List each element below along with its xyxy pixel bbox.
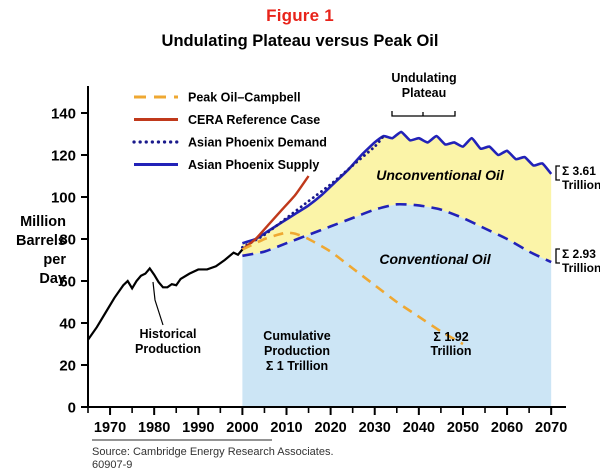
unconventional-sum-bracket [556, 166, 560, 180]
chart-canvas: 0204060801001201401970198019902000201020… [0, 0, 600, 476]
legend-item: Asian Phoenix Demand [134, 136, 327, 150]
x-tick-label: 2010 [270, 420, 302, 436]
y-tick-label: 0 [68, 400, 76, 417]
legend-label: CERA Reference Case [188, 113, 320, 127]
peak-oil-sum-label-line-1: Σ 1.92 [433, 330, 468, 344]
conventional-oil-label-line-1: Conventional Oil [379, 251, 491, 267]
x-tick-label: 2040 [403, 420, 435, 436]
unconventional-oil-label-line-1: Unconventional Oil [376, 167, 505, 183]
undulating-plateau-label-line-2: Plateau [402, 86, 446, 100]
y-tick-label: 60 [59, 274, 76, 291]
conventional-sum-value: Σ 2.93 [562, 247, 596, 261]
undulating-plateau-label-line-1: Undulating [391, 71, 456, 85]
conventional-sum-unit: Trillion [562, 261, 600, 275]
unconventional-sum-value: Σ 3.61 [562, 164, 596, 178]
historical-production-label-line-2: Production [135, 342, 201, 356]
conventional-sum-bracket [556, 249, 560, 263]
legend-label: Peak Oil–Campbell [188, 91, 301, 105]
legend-label: Asian Phoenix Demand [188, 136, 327, 150]
legend-item: Asian Phoenix Supply [134, 158, 319, 172]
x-tick-label: 1990 [182, 420, 214, 436]
legend-item: Peak Oil–Campbell [134, 91, 301, 105]
y-tick-label: 40 [59, 316, 76, 333]
legend-item: CERA Reference Case [134, 113, 320, 127]
x-tick-label: 2000 [226, 420, 258, 436]
cumulative-production-label-line-1: Cumulative [263, 329, 330, 343]
x-tick-label: 1980 [138, 420, 170, 436]
chart-legend: Peak Oil–CampbellCERA Reference CaseAsia… [134, 91, 327, 173]
cumulative-production-label-line-3: Σ 1 Trillion [266, 359, 328, 373]
figure-root: Figure 1 Undulating Plateau versus Peak … [0, 0, 600, 476]
peak-oil-sum-label-line-2: Trillion [431, 344, 472, 358]
unconventional-sum-unit: Trillion [562, 178, 600, 192]
undulating-plateau-bracket [392, 111, 455, 116]
historical-production-leader [153, 282, 163, 325]
cumulative-production-label-line-2: Production [264, 344, 330, 358]
historical-production-label-line-1: Historical [140, 327, 197, 341]
x-tick-label: 2050 [447, 420, 479, 436]
x-tick-label: 1970 [94, 420, 126, 436]
y-tick-label: 80 [59, 232, 76, 249]
y-tick-label: 20 [59, 358, 76, 375]
y-tick-label: 140 [51, 106, 76, 123]
x-tick-label: 2030 [359, 420, 391, 436]
y-tick-label: 100 [51, 190, 76, 207]
x-tick-label: 2020 [314, 420, 346, 436]
legend-label: Asian Phoenix Supply [188, 158, 319, 172]
x-tick-label: 2060 [491, 420, 523, 436]
y-tick-label: 120 [51, 148, 76, 165]
x-tick-label: 2070 [535, 420, 567, 436]
